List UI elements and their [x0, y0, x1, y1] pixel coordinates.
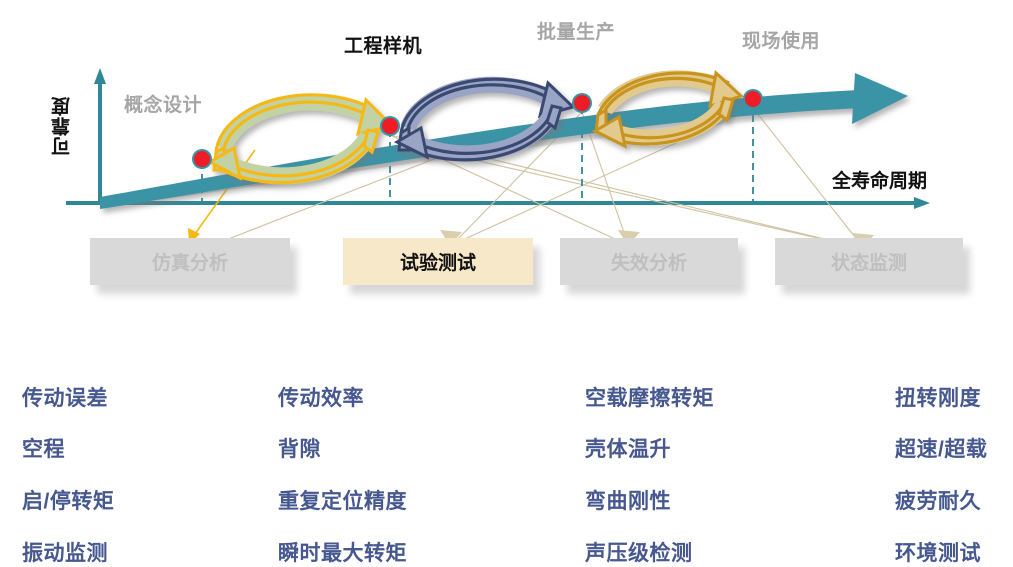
stage-label-mass-production: 批量生产 [537, 17, 615, 44]
stage-label-engineering-prototype: 工程样机 [344, 31, 422, 58]
parameter-grid: 传动误差空程启/停转矩振动监测传动效率背隙重复定位精度瞬时最大转矩空载摩擦转矩壳… [0, 350, 1013, 563]
stage-label-field-use: 现场使用 [742, 26, 820, 53]
parameter-item: 空载摩擦转矩 [585, 382, 714, 412]
x-axis [66, 197, 930, 209]
parameter-item: 传动效率 [278, 382, 364, 412]
activity-box-simulation-analysis-label: 仿真分析 [152, 248, 228, 275]
diagram-canvas: 概念设计工程样机批量生产现场使用 可靠度 全寿命周期 仿真分析试验测试失效分析状… [0, 0, 1013, 563]
milestone-field-use[interactable] [745, 91, 761, 107]
parameter-item: 扭转刚度 [895, 382, 981, 412]
milestone-mass-production[interactable] [574, 95, 590, 111]
x-axis-title: 全寿命周期 [832, 166, 927, 193]
milestone-engineering-prototype[interactable] [382, 118, 398, 134]
activity-box-failure-analysis-label: 失效分析 [611, 248, 687, 275]
parameter-item: 背隙 [278, 433, 321, 463]
activity-box-simulation-analysis[interactable]: 仿真分析 [90, 238, 290, 285]
parameter-item: 重复定位精度 [278, 485, 407, 515]
parameter-item: 空程 [22, 433, 65, 463]
activity-box-condition-monitoring-label: 状态监测 [831, 248, 907, 275]
activity-box-experimental-testing-label: 试验测试 [400, 248, 476, 275]
activity-box-condition-monitoring[interactable]: 状态监测 [775, 238, 963, 285]
y-axis-title: 可靠度 [49, 96, 76, 156]
y-axis [94, 68, 106, 203]
parameter-item: 壳体温升 [585, 433, 671, 463]
milestone-concept-design[interactable] [194, 151, 210, 167]
parameter-item: 超速/超载 [895, 433, 987, 463]
activity-box-failure-analysis[interactable]: 失效分析 [560, 238, 738, 285]
parameter-item: 传动误差 [22, 382, 108, 412]
parameter-item: 弯曲刚性 [585, 485, 671, 515]
parameter-item: 启/停转矩 [22, 485, 114, 515]
parameter-item: 疲劳耐久 [895, 485, 981, 515]
activity-box-experimental-testing[interactable]: 试验测试 [343, 238, 533, 285]
lifecycle-diagram: 概念设计工程样机批量生产现场使用 可靠度 全寿命周期 仿真分析试验测试失效分析状… [0, 0, 1013, 330]
stage-label-concept-design: 概念设计 [124, 90, 202, 117]
